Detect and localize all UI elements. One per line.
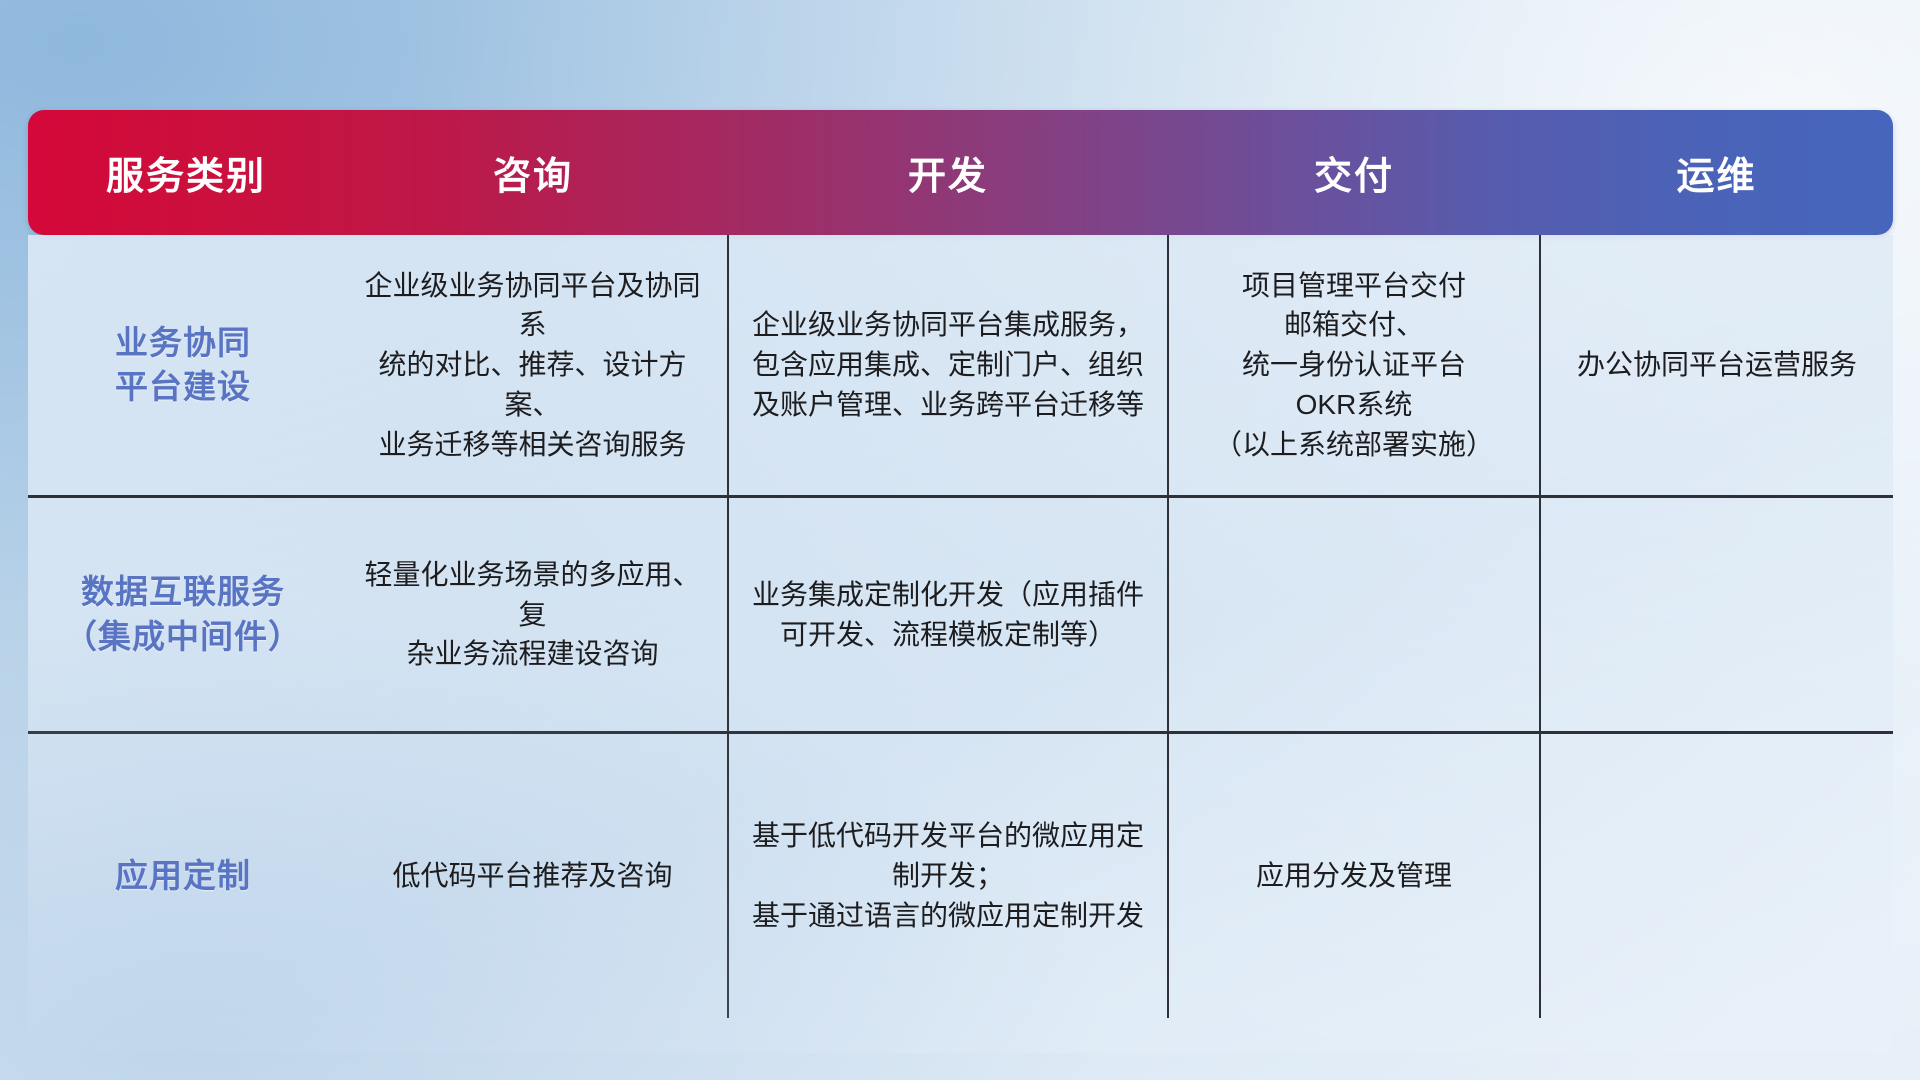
service-matrix-table: 服务类别 咨询 开发 交付 运维 业务协同 平台建设 企业级业务协同平台及协同系… xyxy=(28,110,1893,1018)
cell-development: 业务集成定制化开发（应用插件 可开发、流程模板定制等） xyxy=(728,497,1168,733)
service-matrix-table-wrapper: 服务类别 咨询 开发 交付 运维 业务协同 平台建设 企业级业务协同平台及协同系… xyxy=(28,110,1893,955)
column-header-consulting: 咨询 xyxy=(338,110,728,235)
cell-consulting: 轻量化业务场景的多应用、复 杂业务流程建设咨询 xyxy=(338,497,728,733)
row-category-label: 应用定制 xyxy=(28,733,338,1019)
column-header-category: 服务类别 xyxy=(28,110,338,235)
table-header: 服务类别 咨询 开发 交付 运维 xyxy=(28,110,1893,235)
slide-canvas: 服务类别 咨询 开发 交付 运维 业务协同 平台建设 企业级业务协同平台及协同系… xyxy=(0,0,1920,1080)
table-row: 业务协同 平台建设 企业级业务协同平台及协同系 统的对比、推荐、设计方案、 业务… xyxy=(28,235,1893,497)
table-body: 业务协同 平台建设 企业级业务协同平台及协同系 统的对比、推荐、设计方案、 业务… xyxy=(28,235,1893,1018)
column-header-delivery: 交付 xyxy=(1168,110,1540,235)
cell-consulting: 企业级业务协同平台及协同系 统的对比、推荐、设计方案、 业务迁移等相关咨询服务 xyxy=(338,235,728,497)
cell-operations: 办公协同平台运营服务 xyxy=(1540,235,1893,497)
cell-operations xyxy=(1540,733,1893,1019)
table-header-row: 服务类别 咨询 开发 交付 运维 xyxy=(28,110,1893,235)
column-header-development: 开发 xyxy=(728,110,1168,235)
cell-delivery: 项目管理平台交付 邮箱交付、 统一身份认证平台 OKR系统 （以上系统部署实施） xyxy=(1168,235,1540,497)
table-row: 数据互联服务 （集成中间件） 轻量化业务场景的多应用、复 杂业务流程建设咨询 业… xyxy=(28,497,1893,733)
table-row: 应用定制 低代码平台推荐及咨询 基于低代码开发平台的微应用定 制开发； 基于通过… xyxy=(28,733,1893,1019)
cell-delivery xyxy=(1168,497,1540,733)
row-category-label: 数据互联服务 （集成中间件） xyxy=(28,497,338,733)
cell-consulting: 低代码平台推荐及咨询 xyxy=(338,733,728,1019)
cell-development: 企业级业务协同平台集成服务， 包含应用集成、定制门户、组织 及账户管理、业务跨平… xyxy=(728,235,1168,497)
row-category-label: 业务协同 平台建设 xyxy=(28,235,338,497)
column-header-operations: 运维 xyxy=(1540,110,1893,235)
cell-delivery: 应用分发及管理 xyxy=(1168,733,1540,1019)
cell-operations xyxy=(1540,497,1893,733)
cell-development: 基于低代码开发平台的微应用定 制开发； 基于通过语言的微应用定制开发 xyxy=(728,733,1168,1019)
